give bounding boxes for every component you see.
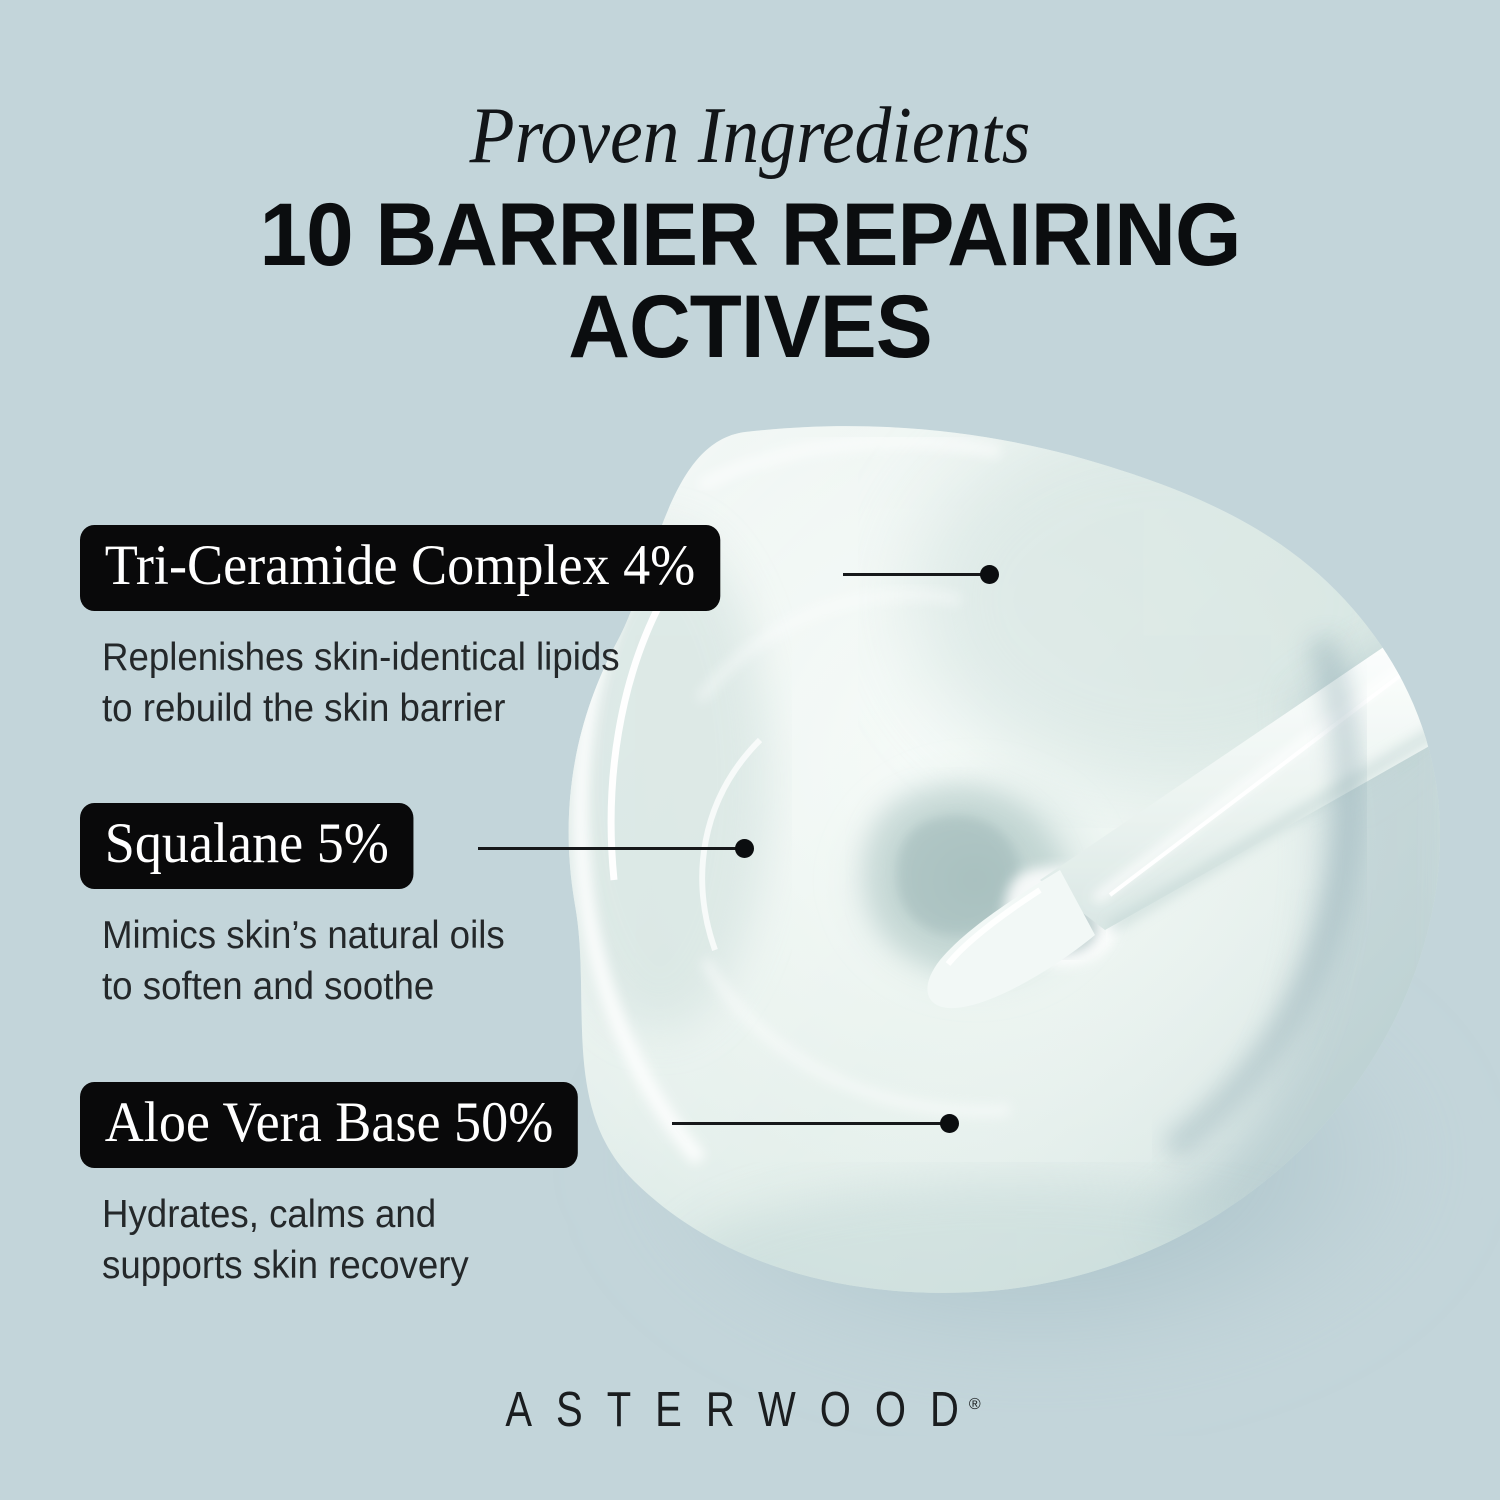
ingredient-callout-1: Tri-Ceramide Complex 4% Replenishes skin… [80,525,754,735]
connector-dot-3 [940,1114,959,1133]
brand-logo: ASTERWOOD® [0,1388,1500,1433]
connector-line-3 [672,1122,951,1125]
connector-dot-1 [980,565,999,584]
ingredient-callout-2: Squalane 5% Mimics skin’s natural oils t… [80,803,530,1013]
connector-line-1 [843,573,991,576]
eyebrow-text: Proven Ingredients [60,96,1440,178]
ingredient-description-3: Hydrates, calms and supports skin recove… [102,1190,574,1291]
ingredient-label-3: Aloe Vera Base 50% [80,1082,578,1168]
ingredient-label-2: Squalane 5% [80,803,414,889]
connector-dot-2 [735,839,754,858]
brand-name: ASTERWOOD [505,1383,983,1438]
header-block: Proven Ingredients 10 BARRIER REPAIRING … [0,96,1500,373]
applicator-rod [927,560,1500,1150]
blob-drop-shadow [605,930,1465,1390]
headline-line-2: ACTIVES [30,280,1470,373]
registered-trademark-icon: ® [969,1396,981,1413]
headline-line-1: 10 BARRIER REPAIRING [30,188,1470,281]
page-title: 10 BARRIER REPAIRING ACTIVES [30,188,1470,373]
ingredient-description-1: Replenishes skin-identical lipids to reb… [102,633,715,734]
ingredient-callout-3: Aloe Vera Base 50% Hydrates, calms and s… [80,1082,604,1292]
ingredient-label-1: Tri-Ceramide Complex 4% [80,525,720,611]
infographic-canvas: Proven Ingredients 10 BARRIER REPAIRING … [0,0,1500,1500]
ingredient-description-2: Mimics skin’s natural oils to soften and… [102,911,505,1012]
